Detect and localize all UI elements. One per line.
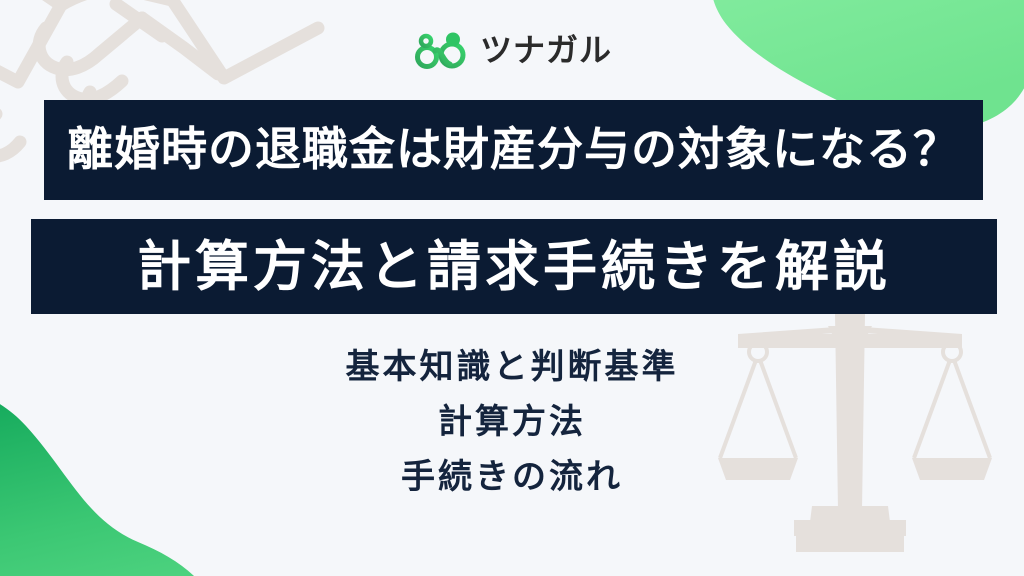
tsunagaru-loop-icon: [412, 30, 468, 70]
headline-line-2-text: 計算方法と請求手続きを解説: [137, 240, 891, 294]
headline-bar-line-1: 離婚時の退職金は財産分与の対象になる？: [44, 100, 983, 200]
subtitle-list: 基本知識と判断基準 計算方法 手続きの流れ: [0, 348, 1024, 497]
headline-line-1-text: 離婚時の退職金は財産分与の対象になる？: [67, 127, 960, 173]
subtitle-line-3: 手続きの流れ: [401, 458, 623, 497]
subtitle-line-2: 計算方法: [438, 403, 586, 442]
brand-logo: ツナガル: [0, 30, 1024, 70]
brand-wordmark: ツナガル: [480, 34, 612, 66]
slide-canvas: ツナガル 離婚時の退職金は財産分与の対象になる？ 計算方法と請求手続きを解説 基…: [0, 0, 1024, 576]
subtitle-line-1: 基本知識と判断基準: [346, 348, 679, 387]
headline-bar-line-2: 計算方法と請求手続きを解説: [31, 219, 997, 314]
